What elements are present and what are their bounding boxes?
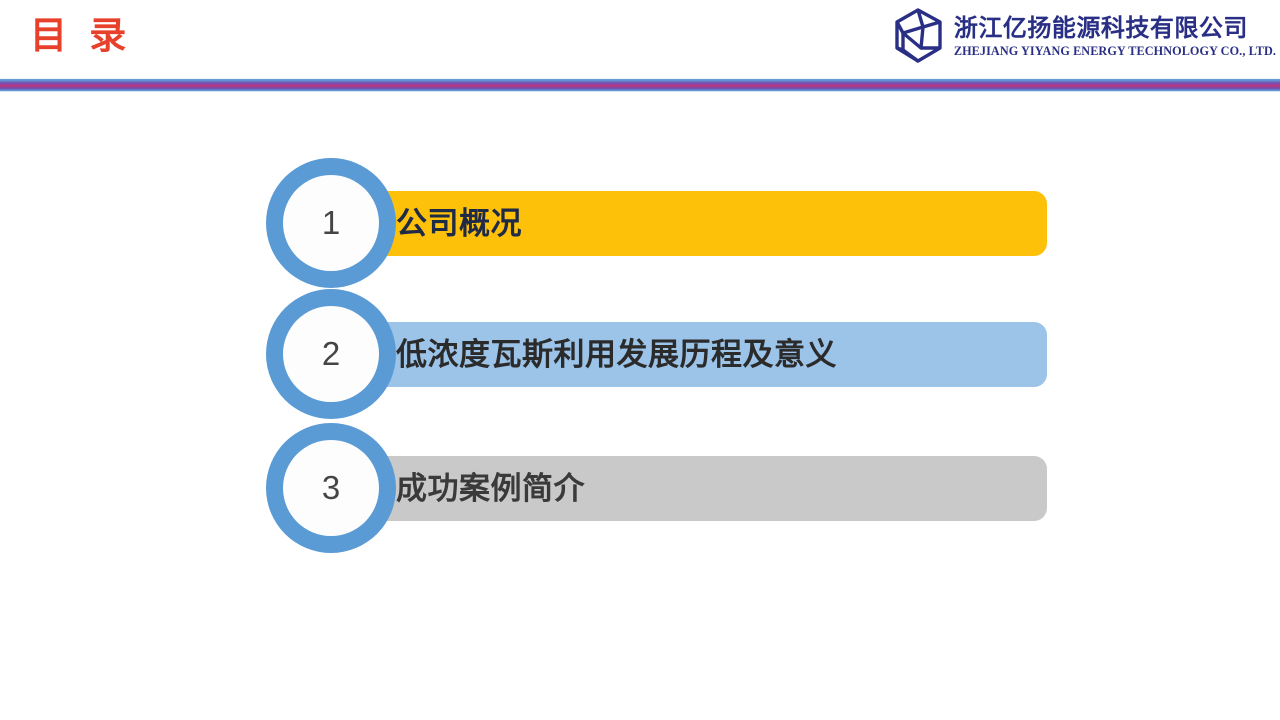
agenda-item-3-label: 成功案例简介 [396, 469, 585, 509]
agenda-item-3-circle-inner: 3 [283, 440, 379, 536]
agenda-item-3-bar[interactable]: 成功案例简介 [330, 456, 1047, 521]
agenda-list: 公司概况 1 低浓度瓦斯利用发展历程及意义 2 成功案例简介 3 [0, 0, 1280, 720]
agenda-item-1-bar[interactable]: 公司概况 [330, 191, 1047, 256]
agenda-item-1-label: 公司概况 [396, 204, 522, 244]
agenda-item-2-bar[interactable]: 低浓度瓦斯利用发展历程及意义 [330, 322, 1047, 387]
agenda-item-2-number: 2 [322, 336, 340, 372]
agenda-item-3-circle: 3 [266, 423, 396, 553]
agenda-item-1-number: 1 [322, 205, 340, 241]
agenda-item-3-number: 3 [322, 470, 340, 506]
agenda-item-2-circle-inner: 2 [283, 306, 379, 402]
agenda-item-1-circle: 1 [266, 158, 396, 288]
agenda-item-1[interactable]: 公司概况 1 [0, 153, 1280, 293]
agenda-item-2[interactable]: 低浓度瓦斯利用发展历程及意义 2 [0, 284, 1280, 424]
agenda-item-2-circle: 2 [266, 289, 396, 419]
agenda-item-1-circle-inner: 1 [283, 175, 379, 271]
agenda-item-3[interactable]: 成功案例简介 3 [0, 418, 1280, 558]
agenda-item-2-label: 低浓度瓦斯利用发展历程及意义 [396, 335, 837, 375]
